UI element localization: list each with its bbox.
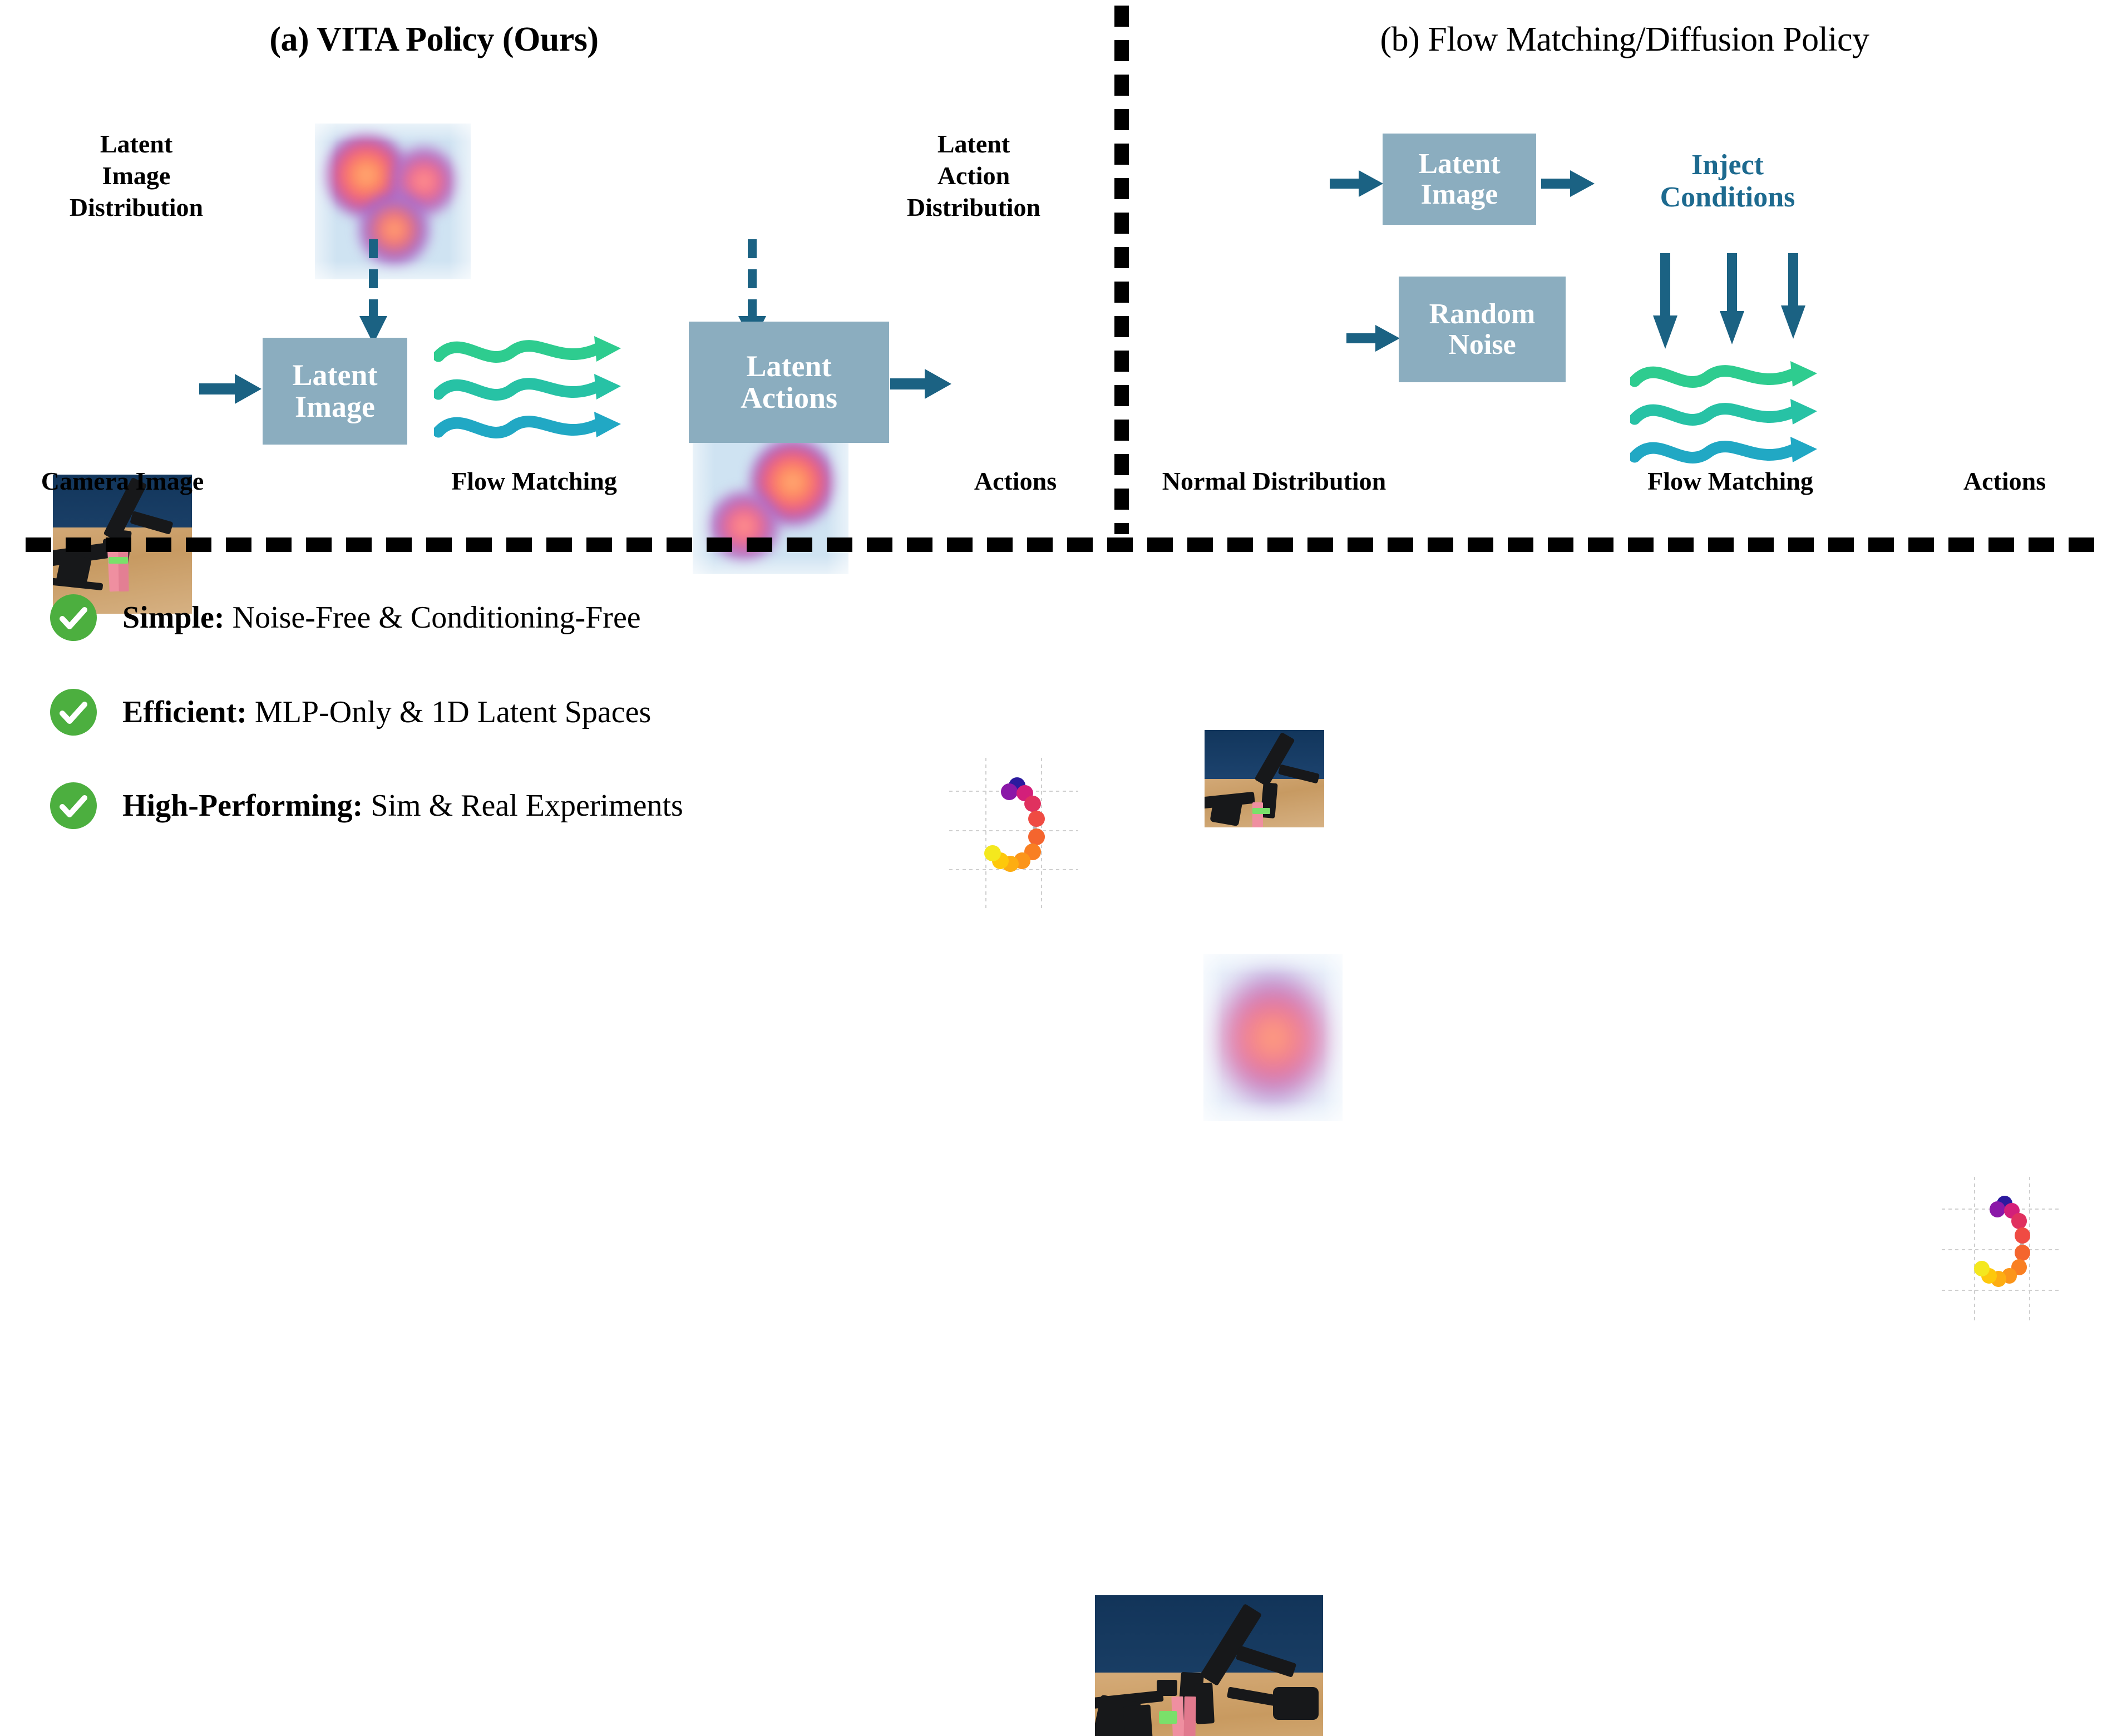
flow-matching-waves-a <box>434 334 634 451</box>
lad-line-1: Latent <box>868 128 1079 160</box>
inject-line-2: Conditions <box>1602 181 1853 214</box>
box-random-noise-line1: Random <box>1429 299 1536 329</box>
camera-to-latent-image-arrow-icon <box>199 369 261 408</box>
latent-image-distribution-arrow-icon <box>354 239 393 345</box>
highlight-0-rest: Noise-Free & Conditioning-Free <box>225 600 641 635</box>
box-latent-image-b-line2: Image <box>1421 179 1498 210</box>
highlight-1-bold: Efficient: <box>122 695 247 729</box>
box-latent-actions-line2: Actions <box>741 382 837 414</box>
highlight-0-bold: Simple: <box>122 600 225 635</box>
caption-flow-matching-b: Flow Matching <box>1619 466 1842 496</box>
latent-action-distribution-label: Latent Action Distribution <box>868 128 1079 223</box>
highlight-2-bold: High-Performing: <box>122 788 363 823</box>
lad-line-3: Distribution <box>868 191 1079 223</box>
panel-a-title: (a) VITA Policy (Ours) <box>128 20 740 60</box>
box-latent-actions: Latent Actions <box>689 322 889 443</box>
highlight-row-2: High-Performing: Sim & Real Experiments <box>50 782 683 829</box>
box-latent-image-a-line1: Latent <box>293 359 378 391</box>
panel-divider-vertical <box>1114 6 1129 534</box>
camera-to-latent-image-arrow-icon-b <box>1330 167 1383 200</box>
flow-matching-waves-b <box>1630 359 1830 476</box>
caption-camera-image: Camera Image <box>19 466 225 496</box>
highlight-2-rest: Sim & Real Experiments <box>363 788 683 823</box>
box-latent-image-a: Latent Image <box>263 338 407 445</box>
normal-distribution-to-random-noise-arrow-icon <box>1346 322 1400 355</box>
check-circle-icon <box>50 782 97 829</box>
lid-line-1: Latent <box>45 128 228 160</box>
inject-line-1: Inject <box>1602 149 1853 181</box>
box-latent-image-b-line1: Latent <box>1418 149 1500 179</box>
latent-actions-to-actions-arrow-icon <box>890 364 951 403</box>
caption-normal-distribution: Normal Distribution <box>1157 466 1391 496</box>
thumbnail-sim-pick-pink-block <box>1095 1595 1323 1736</box>
caption-actions-a: Actions <box>940 466 1090 496</box>
inject-conditions-label: Inject Conditions <box>1602 149 1853 214</box>
latent-image-distribution-heatmap <box>315 124 471 279</box>
highlight-row-1: Efficient: MLP-Only & 1D Latent Spaces <box>50 689 651 736</box>
caption-actions-b: Actions <box>1930 466 2080 496</box>
lid-line-2: Image <box>45 160 228 191</box>
normal-distribution-heatmap <box>1203 954 1343 1121</box>
camera-image-photo-b <box>1205 730 1324 827</box>
injection-arrows-icon <box>1648 253 1815 353</box>
box-latent-actions-line1: Latent <box>747 351 832 382</box>
section-divider-horizontal <box>26 537 2095 552</box>
check-circle-icon <box>50 689 97 736</box>
latent-image-distribution-label: Latent Image Distribution <box>45 128 228 223</box>
highlight-row-0: Simple: Noise-Free & Conditioning-Free <box>50 594 641 641</box>
box-random-noise-line2: Noise <box>1448 329 1516 360</box>
actions-plot-b <box>1942 1177 2061 1321</box>
highlight-1-rest: MLP-Only & 1D Latent Spaces <box>247 695 651 729</box>
panel-b-title: (b) Flow Matching/Diffusion Policy <box>1202 20 2047 60</box>
box-latent-image-a-line2: Image <box>295 391 375 423</box>
box-random-noise: Random Noise <box>1399 277 1566 382</box>
box-latent-image-b: Latent Image <box>1383 134 1536 225</box>
check-circle-icon <box>50 594 97 641</box>
lid-line-3: Distribution <box>45 191 228 223</box>
latent-image-to-inject-arrow-icon <box>1541 167 1595 200</box>
lad-line-2: Action <box>868 160 1079 191</box>
actions-plot-a <box>949 758 1078 908</box>
caption-flow-matching-a: Flow Matching <box>423 466 645 496</box>
